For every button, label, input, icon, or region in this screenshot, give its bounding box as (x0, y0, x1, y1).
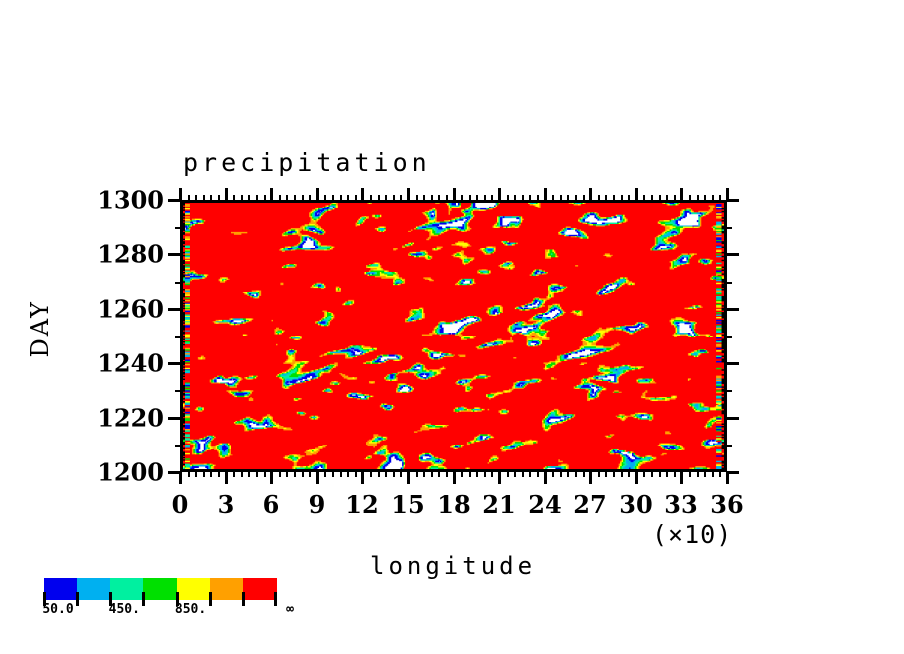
y-axis-title: DAY (26, 300, 54, 357)
x-minor-tick (446, 471, 448, 477)
x-major-tick-top (589, 188, 592, 201)
x-minor-tick-top (438, 195, 440, 201)
x-minor-tick (203, 471, 205, 477)
y-major-tick-right (726, 362, 739, 365)
x-minor-tick-top (218, 195, 220, 201)
x-minor-tick (438, 471, 440, 477)
x-tick-label: 3 (218, 490, 235, 519)
x-minor-tick (507, 471, 509, 477)
precipitation-hovmoller-figure: precipitation 03691215182124273033361200… (0, 0, 904, 654)
x-minor-tick-top (210, 195, 212, 201)
x-major-tick-top (498, 188, 501, 201)
x-minor-tick (575, 471, 577, 477)
x-major-tick (498, 471, 501, 484)
x-minor-tick (469, 471, 471, 477)
x-tick-label: 30 (619, 490, 652, 519)
x-major-tick (544, 471, 547, 484)
x-minor-tick (210, 471, 212, 477)
x-minor-tick (689, 471, 691, 477)
x-minor-tick-top (355, 195, 357, 201)
x-minor-tick (195, 471, 197, 477)
x-minor-tick-top (583, 195, 585, 201)
x-minor-tick (666, 471, 668, 477)
x-minor-tick (385, 471, 387, 477)
x-minor-tick-top (537, 195, 539, 201)
x-minor-tick-top (461, 195, 463, 201)
colorbar-segment-1 (77, 578, 111, 600)
x-minor-tick-top (628, 195, 630, 201)
x-minor-tick-top (659, 195, 661, 201)
x-major-tick (589, 471, 592, 484)
x-minor-tick-top (469, 195, 471, 201)
x-minor-tick-top (279, 195, 281, 201)
x-minor-tick-top (378, 195, 380, 201)
y-minor-tick (175, 282, 181, 284)
x-minor-tick (340, 471, 342, 477)
x-minor-tick (256, 471, 258, 477)
colorbar-segment-3 (143, 578, 177, 600)
x-minor-tick-top (423, 195, 425, 201)
y-major-tick (168, 253, 181, 256)
x-minor-tick-top (332, 195, 334, 201)
x-major-tick-top (680, 188, 683, 201)
x-major-tick (407, 471, 410, 484)
x-minor-tick (302, 471, 304, 477)
x-tick-label: 6 (263, 490, 280, 519)
x-minor-tick-top (188, 195, 190, 201)
x-minor-tick (279, 471, 281, 477)
x-minor-tick (560, 471, 562, 477)
x-major-tick (270, 471, 273, 484)
x-minor-tick-top (400, 195, 402, 201)
x-minor-tick (643, 471, 645, 477)
x-major-tick-top (407, 188, 410, 201)
x-minor-tick-top (294, 195, 296, 201)
x-major-tick (680, 471, 683, 484)
x-minor-tick (241, 471, 243, 477)
x-major-tick-top (635, 188, 638, 201)
x-minor-tick (286, 471, 288, 477)
y-major-tick-right (726, 199, 739, 202)
y-tick-label: 1200 (78, 458, 164, 487)
x-minor-tick (264, 471, 266, 477)
x-minor-tick (309, 471, 311, 477)
x-minor-tick (294, 471, 296, 477)
y-tick-label: 1260 (78, 295, 164, 324)
y-minor-tick-right (726, 336, 732, 338)
x-minor-tick-top (256, 195, 258, 201)
x-minor-tick (370, 471, 372, 477)
x-minor-tick (324, 471, 326, 477)
y-minor-tick (175, 227, 181, 229)
x-minor-tick-top (704, 195, 706, 201)
x-minor-tick (628, 471, 630, 477)
x-minor-tick (218, 471, 220, 477)
x-minor-tick (712, 471, 714, 477)
x-minor-tick (697, 471, 699, 477)
x-minor-tick-top (605, 195, 607, 201)
x-minor-tick (400, 471, 402, 477)
colorbar-label: 50.0 (42, 602, 73, 617)
x-minor-tick (621, 471, 623, 477)
x-minor-tick (651, 471, 653, 477)
x-minor-tick-top (575, 195, 577, 201)
x-minor-tick-top (370, 195, 372, 201)
colorbar-segment-5 (210, 578, 244, 600)
x-minor-tick-top (286, 195, 288, 201)
colorbar-segment-6 (243, 578, 277, 600)
x-minor-tick-top (476, 195, 478, 201)
x-minor-tick-top (643, 195, 645, 201)
x-tick-label: 12 (345, 490, 378, 519)
x-minor-tick (188, 471, 190, 477)
y-minor-tick (175, 390, 181, 392)
x-major-tick-top (544, 188, 547, 201)
x-minor-tick (423, 471, 425, 477)
x-minor-tick-top (697, 195, 699, 201)
x-minor-tick (416, 471, 418, 477)
x-major-tick-top (361, 188, 364, 201)
y-major-tick-right (726, 417, 739, 420)
y-minor-tick-right (726, 282, 732, 284)
x-minor-tick-top (674, 195, 676, 201)
y-major-tick (168, 362, 181, 365)
x-major-tick-top (316, 188, 319, 201)
y-tick-label: 1280 (78, 240, 164, 269)
y-minor-tick-right (726, 227, 732, 229)
y-tick-label: 1220 (78, 404, 164, 433)
x-major-tick-top (225, 188, 228, 201)
colorbar-tick-end (274, 592, 277, 606)
x-minor-tick (552, 471, 554, 477)
colorbar-tick (76, 592, 79, 606)
x-minor-tick (461, 471, 463, 477)
x-tick-label: 24 (528, 490, 561, 519)
x-minor-tick (393, 471, 395, 477)
x-minor-tick-top (431, 195, 433, 201)
y-minor-tick-right (726, 445, 732, 447)
x-minor-tick-top (264, 195, 266, 201)
x-minor-tick-top (621, 195, 623, 201)
colorbar-tick (142, 592, 145, 606)
y-tick-label: 1240 (78, 349, 164, 378)
colorbar-tick (242, 592, 245, 606)
x-minor-tick-top (340, 195, 342, 201)
y-major-tick-right (726, 471, 739, 474)
x-tick-label: 15 (391, 490, 424, 519)
x-minor-tick (431, 471, 433, 477)
colorbar-segment-4 (177, 578, 211, 600)
plot-area (180, 200, 727, 472)
x-minor-tick-top (507, 195, 509, 201)
x-minor-tick (355, 471, 357, 477)
x-minor-tick-top (195, 195, 197, 201)
x-minor-tick (674, 471, 676, 477)
x-minor-tick (704, 471, 706, 477)
colorbar-segment-2 (110, 578, 144, 600)
colorbar-label: ∞ (286, 602, 294, 617)
x-minor-tick (529, 471, 531, 477)
y-major-tick (168, 471, 181, 474)
x-minor-tick (248, 471, 250, 477)
y-major-tick-right (726, 253, 739, 256)
x-minor-tick (605, 471, 607, 477)
x-major-tick (361, 471, 364, 484)
y-minor-tick (175, 336, 181, 338)
x-minor-tick-top (347, 195, 349, 201)
x-minor-tick (476, 471, 478, 477)
x-minor-tick (719, 471, 721, 477)
x-minor-tick (613, 471, 615, 477)
x-tick-label: 18 (437, 490, 470, 519)
x-minor-tick-top (324, 195, 326, 201)
plot-title: precipitation (183, 148, 431, 177)
x-minor-tick (598, 471, 600, 477)
y-major-tick (168, 308, 181, 311)
x-minor-tick-top (689, 195, 691, 201)
x-major-tick (225, 471, 228, 484)
x-minor-tick-top (484, 195, 486, 201)
y-minor-tick-right (726, 390, 732, 392)
x-major-tick (316, 471, 319, 484)
x-minor-tick-top (416, 195, 418, 201)
y-minor-tick (175, 445, 181, 447)
x-minor-tick-top (491, 195, 493, 201)
y-tick-label: 1300 (78, 186, 164, 215)
x-minor-tick-top (560, 195, 562, 201)
x-minor-tick-top (719, 195, 721, 201)
x-minor-tick-top (514, 195, 516, 201)
x-minor-tick (567, 471, 569, 477)
x-minor-tick-top (233, 195, 235, 201)
colorbar-label: 850. (175, 602, 206, 617)
y-major-tick (168, 199, 181, 202)
x-major-tick (453, 471, 456, 484)
precipitation-data-canvas (183, 203, 724, 469)
x-minor-tick (378, 471, 380, 477)
colorbar-label: 450. (109, 602, 140, 617)
x-minor-tick-top (613, 195, 615, 201)
x-minor-tick (514, 471, 516, 477)
x-minor-tick-top (522, 195, 524, 201)
x-minor-tick-top (309, 195, 311, 201)
x-tick-label: 33 (664, 490, 697, 519)
x-minor-tick-top (712, 195, 714, 201)
x-major-tick-top (270, 188, 273, 201)
x-minor-tick (537, 471, 539, 477)
x-tick-label: 9 (309, 490, 326, 519)
x-minor-tick-top (248, 195, 250, 201)
x-minor-tick-top (552, 195, 554, 201)
x-minor-tick-top (666, 195, 668, 201)
x-minor-tick-top (651, 195, 653, 201)
x-axis-multiplier: (×10) (652, 520, 732, 549)
x-tick-label: 27 (573, 490, 606, 519)
x-minor-tick (522, 471, 524, 477)
x-minor-tick-top (598, 195, 600, 201)
y-major-tick (168, 417, 181, 420)
x-major-tick-top (453, 188, 456, 201)
x-minor-tick (491, 471, 493, 477)
y-major-tick-right (726, 308, 739, 311)
x-minor-tick-top (203, 195, 205, 201)
x-minor-tick-top (385, 195, 387, 201)
x-minor-tick (332, 471, 334, 477)
colorbar-tick (209, 592, 212, 606)
colorbar (44, 578, 276, 600)
colorbar-segment-0 (44, 578, 78, 600)
x-minor-tick (233, 471, 235, 477)
x-minor-tick (583, 471, 585, 477)
x-minor-tick-top (393, 195, 395, 201)
x-minor-tick-top (529, 195, 531, 201)
x-major-tick (635, 471, 638, 484)
x-axis-title: longitude (370, 552, 536, 580)
x-minor-tick (659, 471, 661, 477)
x-tick-label: 21 (482, 490, 515, 519)
x-tick-label: 36 (710, 490, 743, 519)
x-minor-tick (347, 471, 349, 477)
x-minor-tick-top (241, 195, 243, 201)
x-tick-label: 0 (172, 490, 189, 519)
x-minor-tick (484, 471, 486, 477)
x-minor-tick-top (446, 195, 448, 201)
x-minor-tick-top (302, 195, 304, 201)
x-minor-tick-top (567, 195, 569, 201)
